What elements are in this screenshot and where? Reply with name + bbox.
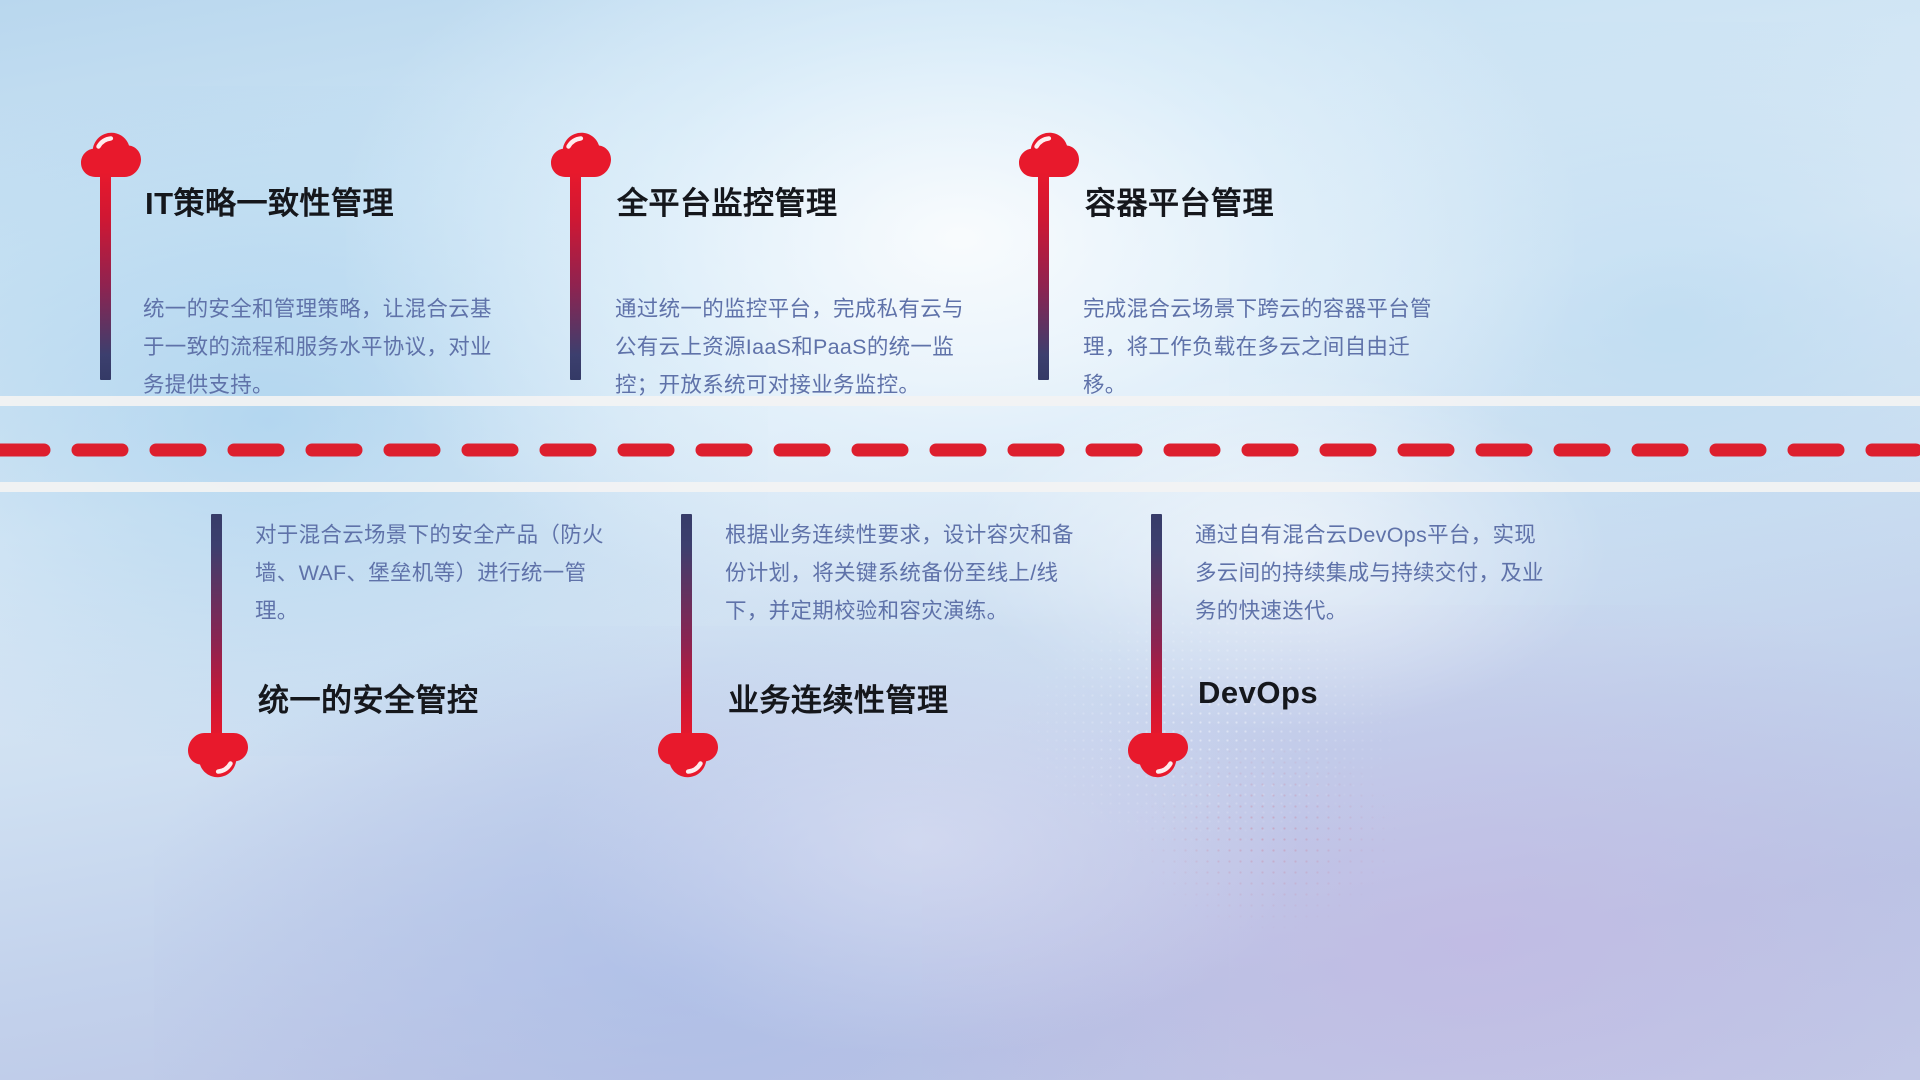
pin-stem [570,172,581,380]
card-body: 根据业务连续性要求，设计容灾和备份计划，将关键系统备份至线上/线下，并定期校验和… [725,516,1080,630]
pin-stem [211,514,222,740]
card-heading: IT策略一致性管理 [145,178,394,223]
pin-stem [1151,514,1162,740]
infographic-stage: IT策略一致性管理 统一的安全和管理策略，让混合云基于一致的流程和服务水平协议，… [0,0,1920,1080]
card-body: 统一的安全和管理策略，让混合云基于一致的流程和服务水平协议，对业务提供支持。 [143,290,493,404]
pin-stem [1038,172,1049,380]
cloud-icon [187,732,249,780]
card-heading: 业务连续性管理 [728,675,949,720]
card-body: 通过自有混合云DevOps平台，实现多云间的持续集成与持续交付，及业务的快速迭代… [1195,516,1545,630]
card-heading: 统一的安全管控 [258,675,479,720]
card-body: 对于混合云场景下的安全产品（防火墙、WAF、堡垒机等）进行统一管理。 [255,516,615,630]
card-body: 完成混合云场景下跨云的容器平台管理，将工作负载在多云之间自由迁移。 [1083,290,1438,404]
cloud-icon [1127,732,1189,780]
card-heading: 全平台监控管理 [617,178,838,223]
red-dashed-separator [0,442,1920,458]
cloud-icon [657,732,719,780]
divider-band-top [0,396,1920,406]
divider-band-bottom [0,482,1920,492]
card-heading: 容器平台管理 [1085,178,1274,223]
cloud-icon [550,130,612,178]
pin-stem [100,172,111,380]
card-heading: DevOps [1198,675,1318,711]
cloud-icon [80,130,142,178]
pin-stem [681,514,692,740]
cloud-icon [1018,130,1080,178]
card-body: 通过统一的监控平台，完成私有云与公有云上资源IaaS和PaaS的统一监控；开放系… [615,290,975,404]
